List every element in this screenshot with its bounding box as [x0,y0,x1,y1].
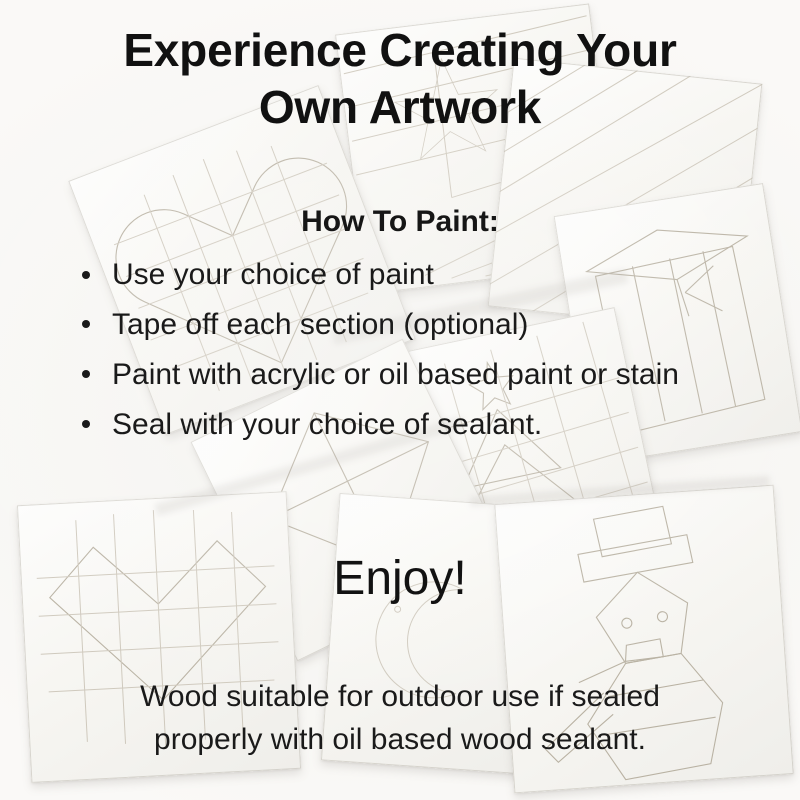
footnote-line-2: properly with oil based wood sealant. [0,719,800,762]
page-title: Experience Creating Your Own Artwork [0,22,800,135]
list-item-label: Use your choice of paint [112,258,434,291]
footnote: Wood suitable for outdoor use if sealed … [0,676,800,761]
bullet-icon [82,320,90,328]
list-item-label: Seal with your choice of sealant. [112,408,542,441]
page-title-line-2: Own Artwork [0,79,800,136]
page-title-line-1: Experience Creating Your [0,22,800,79]
bullet-icon [82,370,90,378]
bullet-icon [82,271,90,279]
list-item: Paint with acrylic or oil based paint or… [74,352,764,398]
list-item: Use your choice of paint [74,252,764,298]
list-item: Tape off each section (optional) [74,302,764,348]
enjoy-callout: Enjoy! [0,551,800,606]
list-item: Seal with your choice of sealant. [74,402,764,448]
poster-canvas: Experience Creating Your Own Artwork How… [0,0,800,800]
bullet-icon [82,420,90,428]
howto-heading: How To Paint: [0,205,800,239]
list-item-label: Tape off each section (optional) [112,308,528,341]
text-overlay: Experience Creating Your Own Artwork How… [0,0,800,800]
list-item-label: Paint with acrylic or oil based paint or… [112,358,679,391]
footnote-line-1: Wood suitable for outdoor use if sealed [0,676,800,719]
howto-steps-list: Use your choice of paint Tape off each s… [74,252,764,452]
